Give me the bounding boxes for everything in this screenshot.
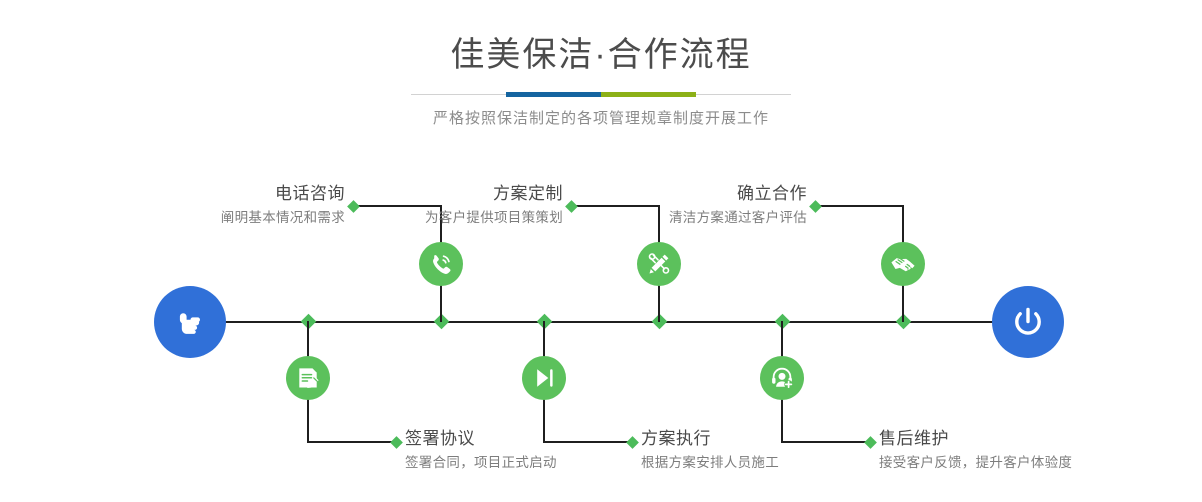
phone-call-icon bbox=[428, 251, 454, 277]
play-next-icon bbox=[531, 365, 557, 391]
power-icon bbox=[1007, 301, 1049, 343]
lead-line-step-1 bbox=[308, 441, 397, 443]
step-5-desc: 接受客户反馈，提升客户体验度 bbox=[879, 453, 1179, 473]
step-1-icon-node[interactable] bbox=[286, 356, 330, 400]
title-divider bbox=[411, 92, 791, 97]
flow-diagram-canvas: 佳美保洁·合作流程 严格按照保洁制定的各项管理规章制度开展工作 bbox=[0, 0, 1202, 502]
page-subtitle: 严格按照保洁制定的各项管理规章制度开展工作 bbox=[0, 109, 1202, 129]
timeline-start-node bbox=[154, 286, 226, 358]
step-5-title: 售后维护 bbox=[879, 428, 1179, 450]
step-4-label: 方案定制 为客户提供项目策策划 bbox=[313, 183, 563, 228]
lead-dot-step-6 bbox=[809, 200, 822, 213]
step-4-icon-node[interactable] bbox=[637, 242, 681, 286]
divider-segment-green bbox=[601, 92, 696, 97]
step-2-title: 电话咨询 bbox=[95, 183, 345, 205]
customer-service-add-icon bbox=[769, 365, 795, 391]
step-6-icon-node[interactable] bbox=[881, 242, 925, 286]
lead-line-step-3 bbox=[544, 441, 633, 443]
step-4-title: 方案定制 bbox=[313, 183, 563, 205]
step-2-label: 电话咨询 阐明基本情况和需求 bbox=[95, 183, 345, 228]
pointing-hand-icon bbox=[170, 302, 210, 342]
step-6-desc: 清洁方案通过客户评估 bbox=[557, 208, 807, 228]
divider-segment-blue bbox=[506, 92, 601, 97]
timeline-end-node bbox=[992, 286, 1064, 358]
step-2-desc: 阐明基本情况和需求 bbox=[95, 208, 345, 228]
step-2-icon-node[interactable] bbox=[419, 242, 463, 286]
step-3-icon-node[interactable] bbox=[522, 356, 566, 400]
pencil-ruler-icon bbox=[646, 251, 672, 277]
header-block: 佳美保洁·合作流程 严格按照保洁制定的各项管理规章制度开展工作 bbox=[0, 34, 1202, 129]
handshake-icon bbox=[889, 250, 917, 278]
lead-line-step-5 bbox=[782, 441, 871, 443]
page-title: 佳美保洁·合作流程 bbox=[0, 34, 1202, 76]
step-5-icon-node[interactable] bbox=[760, 356, 804, 400]
step-4-desc: 为客户提供项目策策划 bbox=[313, 208, 563, 228]
lead-line-step-6 bbox=[815, 205, 904, 207]
step-6-title: 确立合作 bbox=[557, 183, 807, 205]
document-edit-icon bbox=[295, 365, 321, 391]
lead-dot-step-1 bbox=[390, 436, 403, 449]
step-5-label: 售后维护 接受客户反馈，提升客户体验度 bbox=[879, 428, 1179, 473]
step-6-label: 确立合作 清洁方案通过客户评估 bbox=[557, 183, 807, 228]
